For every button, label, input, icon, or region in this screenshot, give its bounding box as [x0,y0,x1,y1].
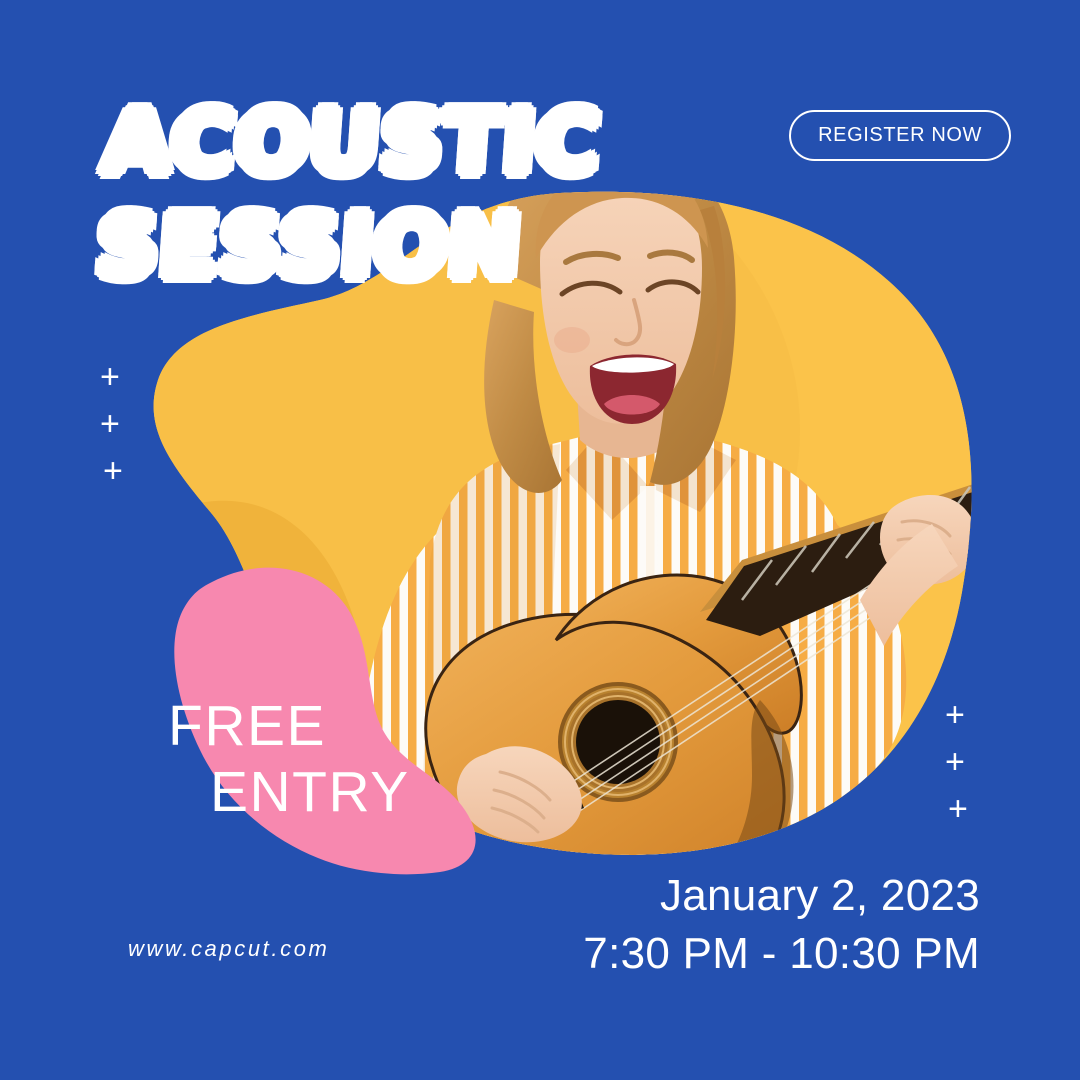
title-line-2: SESSION [94,207,596,289]
poster-canvas: ACOUSTIC SESSION REGISTER NOW FREE ENTRY… [0,0,1080,1080]
event-time: 7:30 PM - 10:30 PM [583,925,980,984]
plus-icon: + [945,745,965,779]
plus-icon: + [945,698,965,732]
free-entry-badge: FREE ENTRY [168,693,410,825]
badge-line-1: FREE [168,694,326,758]
event-date: January 2, 2023 [583,867,980,926]
title-line-1: ACOUSTIC [100,93,603,193]
plus-icon: + [100,407,120,441]
register-now-button[interactable]: REGISTER NOW [789,110,1011,161]
plus-icon: + [100,360,120,394]
event-datetime: January 2, 2023 7:30 PM - 10:30 PM [583,867,980,984]
page-title: ACOUSTIC SESSION [94,103,603,288]
plus-icon: + [948,792,968,826]
badge-line-2: ENTRY [210,759,410,825]
plus-icon: + [103,454,123,488]
website-url[interactable]: www.capcut.com [128,936,329,962]
